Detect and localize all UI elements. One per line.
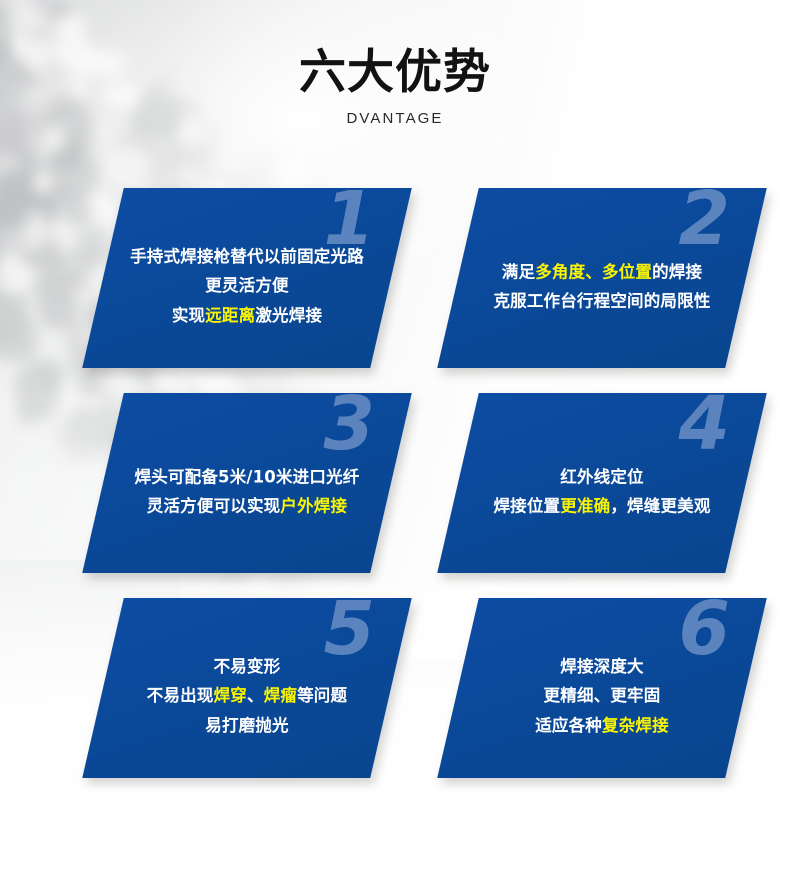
- plain-text: ，焊缝更美观: [610, 497, 710, 516]
- advantage-card-line: 不易变形: [103, 652, 391, 681]
- advantage-card-line: 手持式焊接枪替代以前固定光路: [103, 242, 391, 271]
- advantage-card-content: 6焊接深度大更精细、更牢固适应各种复杂焊接: [458, 598, 746, 778]
- advantage-card-content: 3焊头可配备5米/10米进口光纤灵活方便可以实现户外焊接: [103, 393, 391, 573]
- highlighted-text: 户外焊接: [280, 497, 347, 516]
- advantage-card-line: 适应各种复杂焊接: [458, 711, 746, 740]
- advantage-card-line: 焊接位置更准确，焊缝更美观: [458, 492, 746, 521]
- advantage-card-6: 6焊接深度大更精细、更牢固适应各种复杂焊接: [437, 598, 767, 778]
- page-subtitle: DVANTAGE: [0, 110, 790, 127]
- plain-text: 灵活方便可以实现: [147, 497, 281, 516]
- advantage-card-line: 灵活方便可以实现户外焊接: [103, 492, 391, 521]
- plain-text: 不易出现: [147, 686, 214, 705]
- plain-text: 实现: [172, 306, 205, 325]
- advantage-card-text: 红外线定位焊接位置更准确，焊缝更美观: [458, 445, 746, 522]
- advantage-card-text: 不易变形不易出现焊穿、焊瘤等问题易打磨抛光: [103, 636, 391, 740]
- advantages-page: 六大优势 DVANTAGE 1手持式焊接枪替代以前固定光路更灵活方便实现远距离激…: [0, 0, 790, 878]
- plain-text: 红外线定位: [560, 468, 644, 487]
- page-heading: 六大优势 DVANTAGE: [0, 48, 790, 127]
- advantage-card-4: 4红外线定位焊接位置更准确，焊缝更美观: [437, 393, 767, 573]
- advantage-card-line: 实现远距离激光焊接: [103, 301, 391, 330]
- highlighted-text: 焊穿: [214, 686, 247, 705]
- page-title: 六大优势: [0, 48, 790, 99]
- advantage-card-line: 焊头可配备5米/10米进口光纤: [103, 463, 391, 492]
- advantage-card-line: 不易出现焊穿、焊瘤等问题: [103, 681, 391, 710]
- advantage-card-content: 4红外线定位焊接位置更准确，焊缝更美观: [458, 393, 746, 573]
- plain-text: 易打磨抛光: [205, 716, 289, 735]
- plain-text: 适应各种: [535, 716, 602, 735]
- highlighted-text: 多角度、多位置: [535, 263, 652, 282]
- advantage-card-line: 克服工作台行程空间的局限性: [458, 287, 746, 316]
- advantage-card-1: 1手持式焊接枪替代以前固定光路更灵活方便实现远距离激光焊接: [82, 188, 412, 368]
- plain-text: 更灵活方便: [205, 276, 289, 295]
- plain-text: 满足: [502, 263, 535, 282]
- highlighted-text: 更准确: [560, 497, 610, 516]
- advantage-card-text: 焊头可配备5米/10米进口光纤灵活方便可以实现户外焊接: [103, 445, 391, 522]
- plain-text: 焊接深度大: [560, 657, 644, 676]
- advantage-card-text: 手持式焊接枪替代以前固定光路更灵活方便实现远距离激光焊接: [103, 226, 391, 330]
- plain-text: 激光焊接: [255, 306, 322, 325]
- advantage-card-line: 易打磨抛光: [103, 711, 391, 740]
- advantage-card-text: 焊接深度大更精细、更牢固适应各种复杂焊接: [458, 636, 746, 740]
- advantage-card-text: 满足多角度、多位置的焊接克服工作台行程空间的局限性: [458, 240, 746, 317]
- highlighted-text: 焊瘤: [264, 686, 297, 705]
- advantage-card-line: 焊接深度大: [458, 652, 746, 681]
- plain-text: 更精细、更牢固: [544, 686, 661, 705]
- highlighted-text: 远距离: [205, 306, 255, 325]
- advantage-card-line: 更灵活方便: [103, 271, 391, 300]
- advantage-card-content: 1手持式焊接枪替代以前固定光路更灵活方便实现远距离激光焊接: [103, 188, 391, 368]
- plain-text: 的焊接: [652, 263, 702, 282]
- advantage-card-5: 5不易变形不易出现焊穿、焊瘤等问题易打磨抛光: [82, 598, 412, 778]
- advantage-card-content: 5不易变形不易出现焊穿、焊瘤等问题易打磨抛光: [103, 598, 391, 778]
- plain-text: 不易变形: [214, 657, 281, 676]
- plain-text: 等问题: [297, 686, 347, 705]
- plain-text: 手持式焊接枪替代以前固定光路: [130, 247, 364, 266]
- advantage-card-2: 2满足多角度、多位置的焊接克服工作台行程空间的局限性: [437, 188, 767, 368]
- advantage-card-line: 红外线定位: [458, 463, 746, 492]
- advantage-card-line: 满足多角度、多位置的焊接: [458, 258, 746, 287]
- plain-text: 焊接位置: [493, 497, 560, 516]
- plain-text: 焊头可配备5米/10米进口光纤: [135, 468, 360, 487]
- advantage-card-3: 3焊头可配备5米/10米进口光纤灵活方便可以实现户外焊接: [82, 393, 412, 573]
- advantage-card-grid: 1手持式焊接枪替代以前固定光路更灵活方便实现远距离激光焊接2满足多角度、多位置的…: [0, 0, 790, 878]
- plain-text: 、: [247, 686, 264, 705]
- advantage-card-line: 更精细、更牢固: [458, 681, 746, 710]
- advantage-card-content: 2满足多角度、多位置的焊接克服工作台行程空间的局限性: [458, 188, 746, 368]
- plain-text: 克服工作台行程空间的局限性: [493, 292, 710, 311]
- highlighted-text: 复杂焊接: [602, 716, 669, 735]
